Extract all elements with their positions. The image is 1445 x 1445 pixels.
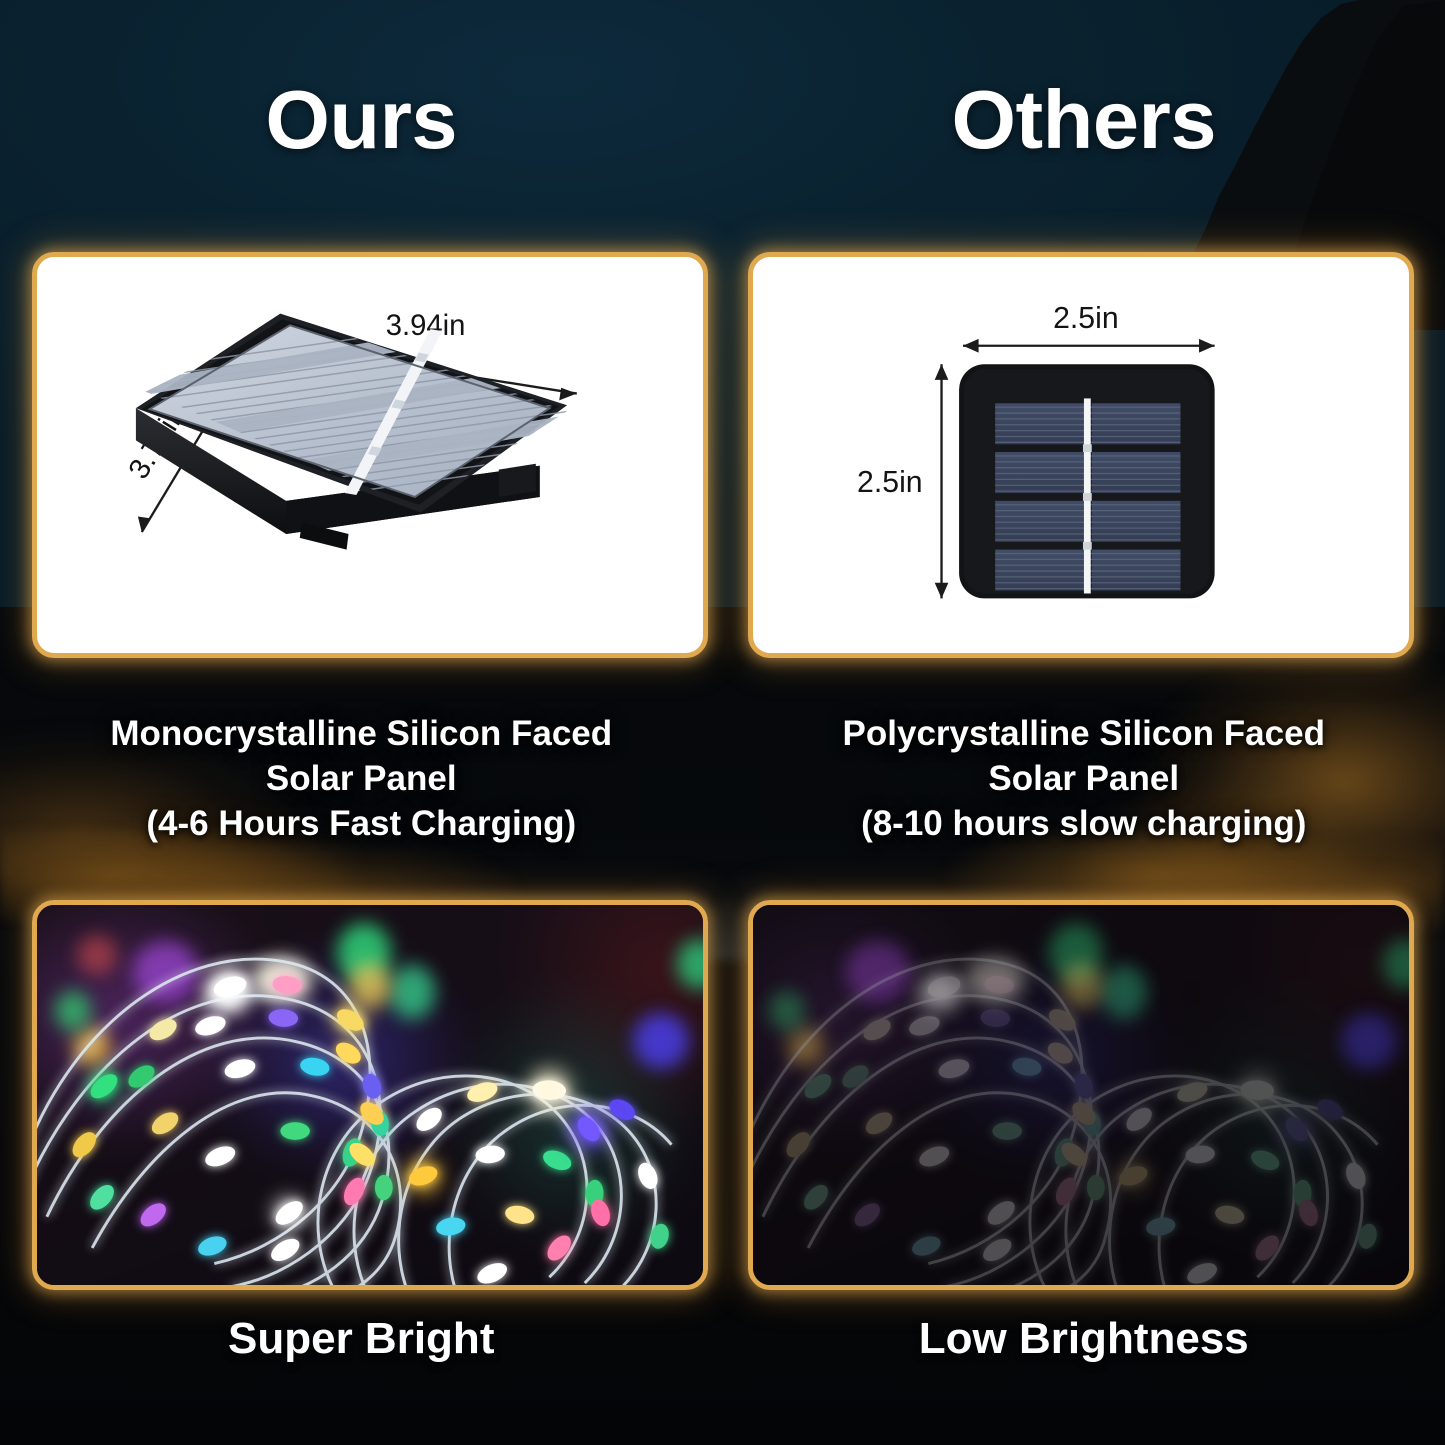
- ours-caption-line-1: Monocrystalline Silicon Faced: [110, 712, 612, 757]
- caption-col-ours: Monocrystalline Silicon Faced Solar Pane…: [0, 712, 723, 846]
- super-bright-led-scene: [37, 905, 703, 1285]
- ours-caption-line-2: Solar Panel: [266, 757, 457, 802]
- polycrystalline-panel-illustration: 2.5in 2.5in: [753, 257, 1409, 653]
- comparison-infographic: Ours Others: [0, 0, 1445, 1445]
- ours-solar-panel-card: 3.94in 3.74in: [32, 252, 708, 658]
- bottom-col-others: Low Brightness: [723, 1314, 1445, 1364]
- low-brightness-led-scene: [753, 905, 1409, 1285]
- led-string-wires-bright: [37, 905, 703, 1285]
- ours-caption-line-3: (4-6 Hours Fast Charging): [146, 802, 576, 847]
- captions-row: Monocrystalline Silicon Faced Solar Pane…: [0, 712, 1445, 846]
- led-string-wires-dim: [753, 905, 1409, 1285]
- others-width-dimension-label: 2.5in: [1053, 302, 1119, 335]
- heading-ours: Ours: [265, 78, 457, 161]
- heading-others: Others: [951, 78, 1216, 161]
- ours-width-dimension-label: 3.94in: [386, 310, 466, 342]
- ours-led-lights-card: [32, 900, 708, 1290]
- others-brightness-label: Low Brightness: [919, 1314, 1249, 1363]
- dimension-line-height: [935, 364, 949, 598]
- heading-col-others: Others: [723, 78, 1445, 161]
- others-solar-panel-card: 2.5in 2.5in: [748, 252, 1414, 658]
- caption-col-others: Polycrystalline Silicon Faced Solar Pane…: [723, 712, 1445, 846]
- dimension-line-width: [963, 339, 1215, 353]
- others-led-lights-card: [748, 900, 1414, 1290]
- headings-row: Ours Others: [0, 78, 1445, 161]
- bottom-col-ours: Super Bright: [0, 1314, 723, 1364]
- ours-brightness-label: Super Bright: [228, 1314, 494, 1363]
- others-caption-line-1: Polycrystalline Silicon Faced: [843, 712, 1325, 757]
- monocrystalline-panel-illustration: 3.94in 3.74in: [37, 257, 703, 653]
- others-height-dimension-label: 2.5in: [857, 466, 923, 499]
- heading-col-ours: Ours: [0, 78, 723, 161]
- bottom-labels-row: Super Bright Low Brightness: [0, 1314, 1445, 1364]
- others-caption-line-3: (8-10 hours slow charging): [861, 802, 1306, 847]
- others-caption-line-2: Solar Panel: [988, 757, 1179, 802]
